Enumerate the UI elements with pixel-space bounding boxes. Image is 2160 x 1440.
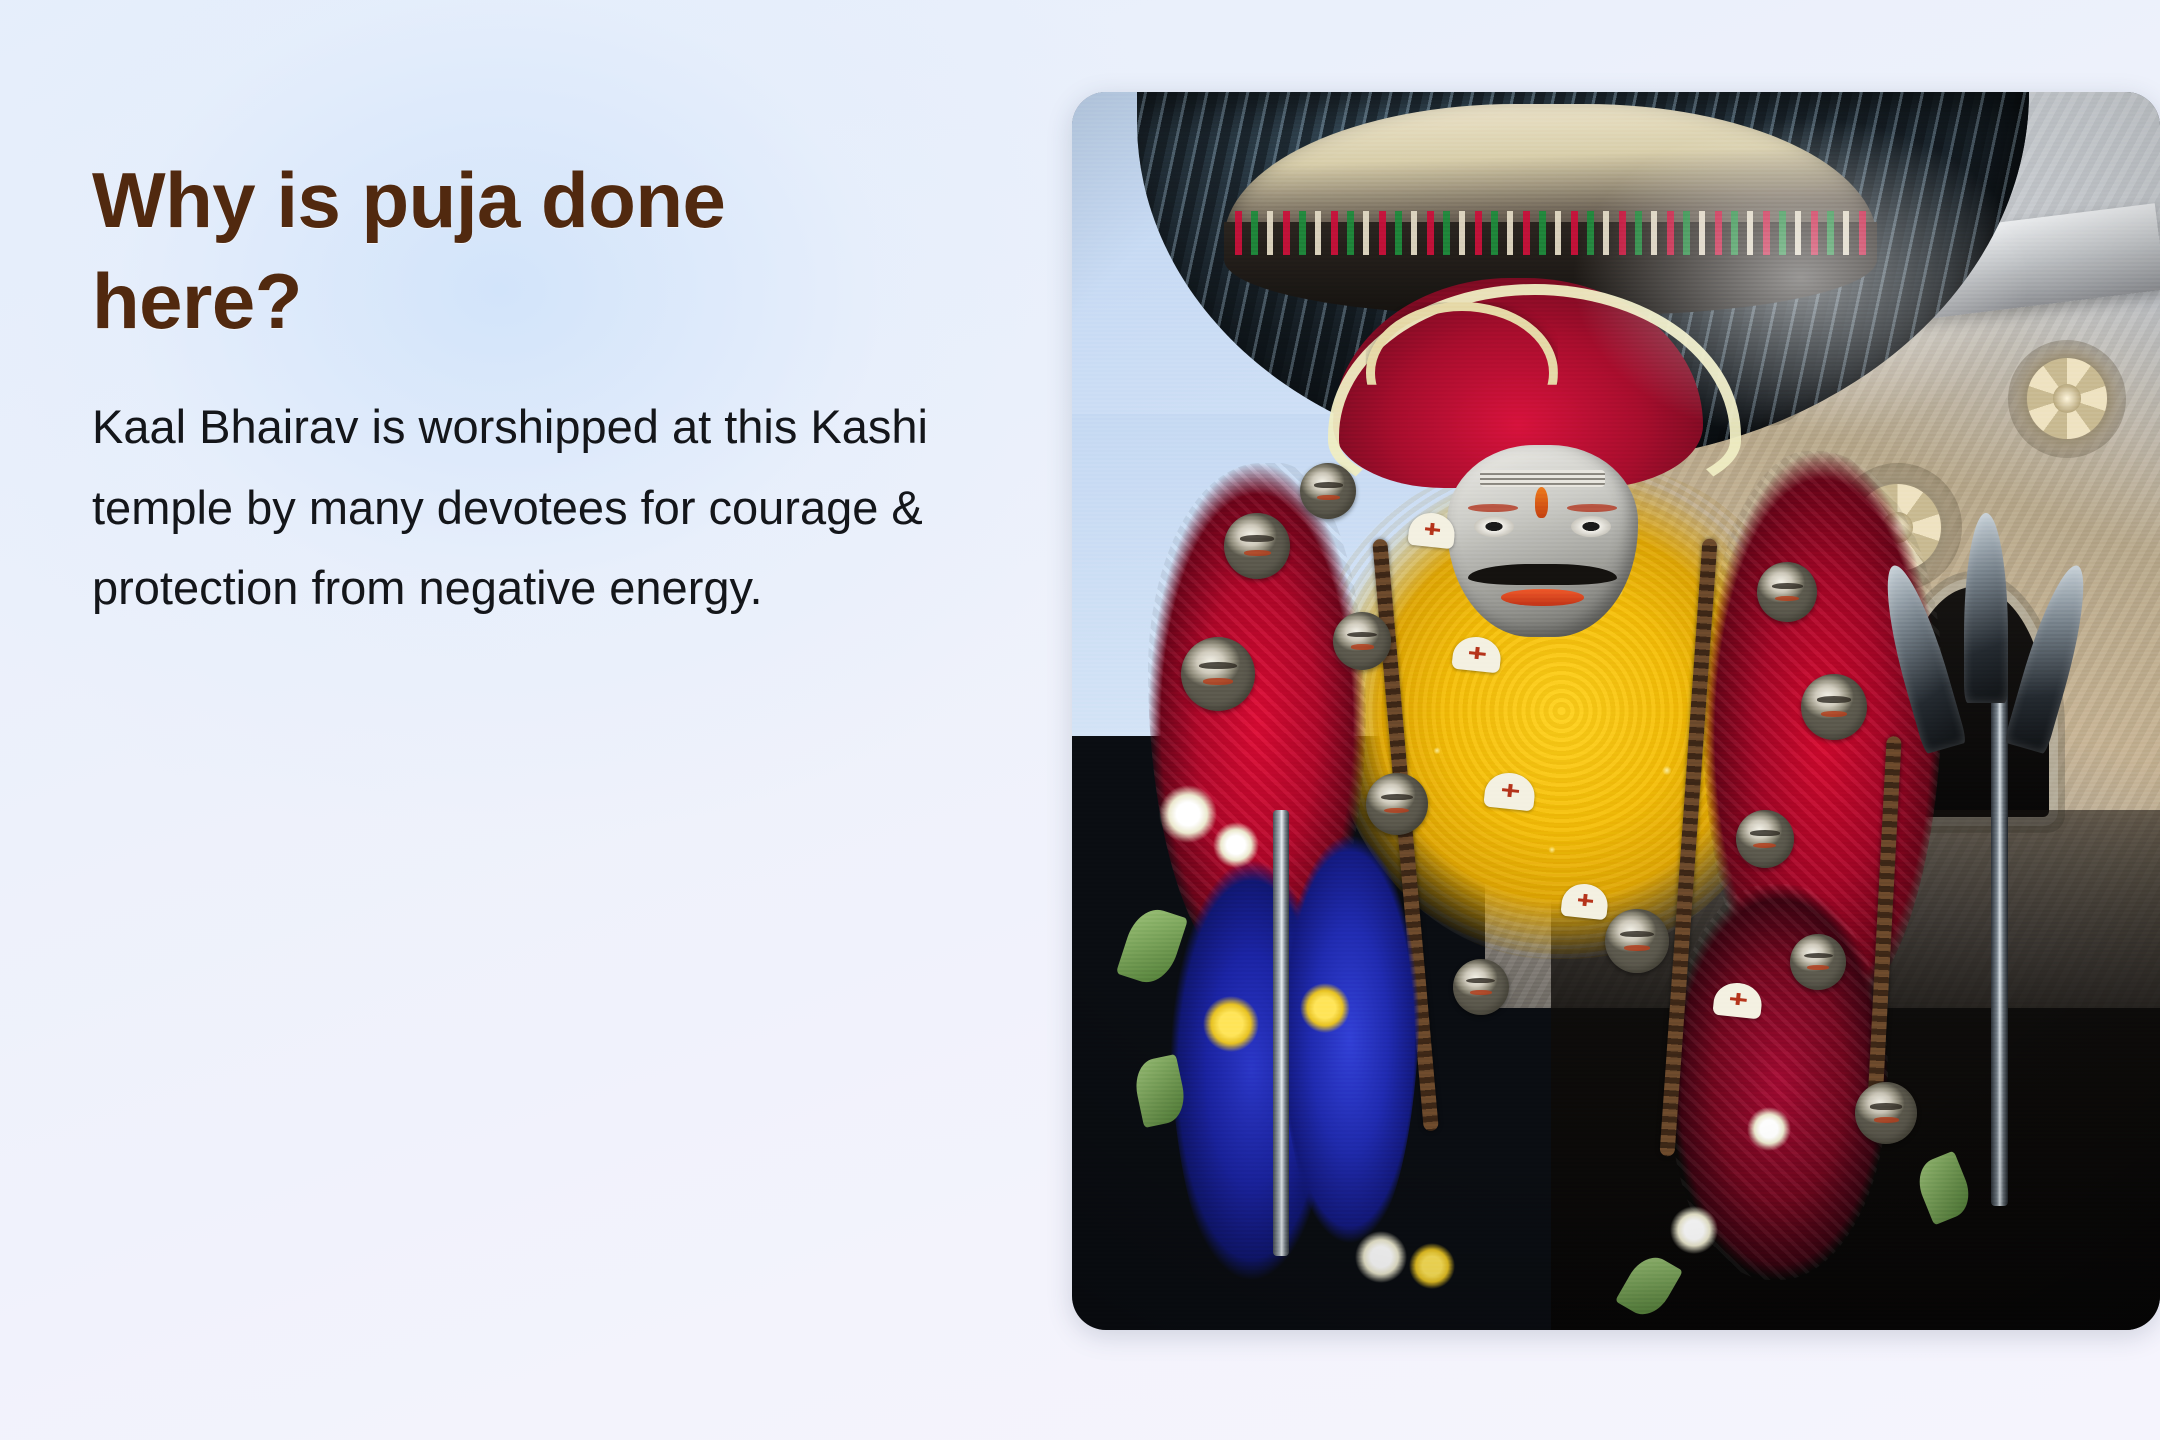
silver-face-medallion: [1790, 934, 1846, 990]
silver-face-medallion: [1224, 513, 1290, 579]
silver-face-medallion: [1333, 612, 1391, 670]
bead-fringe: [1235, 211, 1866, 256]
tripundra-mark: [1480, 470, 1606, 487]
trishul-shaft: [1991, 637, 2008, 1206]
slide-canvas: Why is puja done here? Kaal Bhairav is w…: [0, 0, 2160, 1440]
silver-staff: [1273, 810, 1289, 1256]
deity-photo-frame: [1072, 92, 2160, 1330]
eyebrow-right: [1567, 504, 1617, 512]
silver-face-medallion: [1181, 637, 1255, 711]
body-paragraph: Kaal Bhairav is worshipped at this Kashi…: [92, 387, 962, 629]
silver-face-medallion: [1366, 773, 1428, 835]
deity-photo: [1072, 92, 2160, 1330]
silver-face-medallion: [1453, 959, 1509, 1015]
page-title: Why is puja done here?: [92, 150, 972, 353]
deity-silver-face: [1447, 445, 1637, 637]
text-column: Why is puja done here? Kaal Bhairav is w…: [92, 150, 972, 629]
eye-right: [1571, 516, 1611, 537]
white-chrysanthemum: [1747, 1107, 1791, 1151]
eyebrow-left: [1468, 504, 1518, 512]
floral-rosette-carving: [2008, 340, 2126, 458]
yellow-chrysanthemum: [1203, 996, 1259, 1052]
silver-face-medallion: [1605, 909, 1669, 973]
yellow-chrysanthemum: [1409, 1243, 1455, 1289]
lips: [1501, 589, 1585, 606]
silver-face-medallion: [1736, 810, 1794, 868]
eye-left: [1474, 516, 1514, 537]
silver-face-medallion: [1801, 674, 1867, 740]
white-chrysanthemum: [1159, 785, 1217, 843]
mustache: [1468, 564, 1617, 585]
white-chrysanthemum: [1355, 1231, 1407, 1283]
tilak-mark: [1535, 487, 1548, 518]
